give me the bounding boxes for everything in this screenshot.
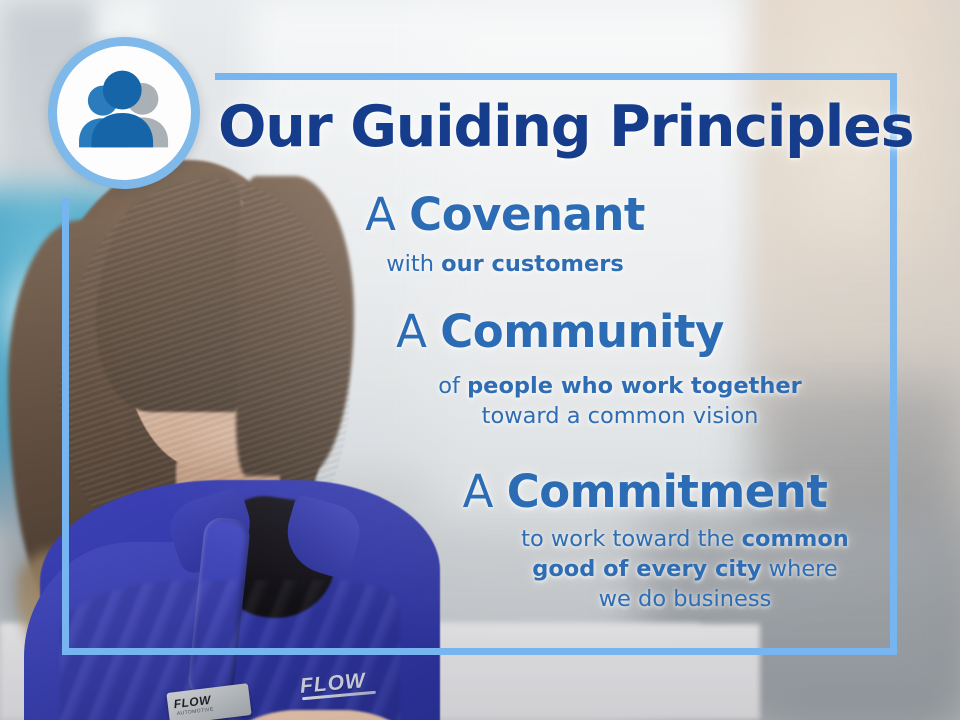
commitment-sub-regular-1: to work toward the	[521, 526, 742, 552]
principle-lead-commitment: A	[463, 465, 493, 518]
principle-heading-community: A Community	[380, 305, 740, 358]
people-group-icon	[57, 46, 191, 180]
guiding-principles-graphic: FLOW AUTOMOTIVE FLOW Our Guiding Pri	[0, 0, 960, 720]
covenant-sub-regular: with	[386, 251, 441, 277]
principle-word-community: Community	[440, 305, 724, 358]
community-sub-line-2: toward a common vision	[420, 402, 820, 432]
commitment-sub-line-1: to work toward the common	[490, 525, 880, 555]
commitment-sub-bold-2: good of every city	[532, 556, 761, 582]
covenant-sub-bold: our customers	[441, 251, 624, 277]
principle-heading-commitment: A Commitment	[440, 465, 850, 518]
commitment-sub-bold-1: common	[742, 526, 849, 552]
principle-sub-covenant: with our customers	[330, 250, 680, 280]
principle-heading-covenant: A Covenant	[340, 188, 670, 241]
commitment-sub-line-3: we do business	[490, 585, 880, 615]
community-sub-regular: of	[438, 373, 467, 399]
principle-word-commitment: Commitment	[507, 465, 828, 518]
principle-word-covenant: Covenant	[409, 188, 645, 241]
principle-sub-commitment: to work toward the common good of every …	[490, 525, 880, 615]
principle-lead-community: A	[396, 305, 426, 358]
community-sub-bold: people who work together	[467, 373, 802, 399]
page-title: Our Guiding Principles	[218, 94, 878, 160]
frame-border-bottom	[62, 648, 897, 655]
principle-sub-community: of people who work together toward a com…	[420, 372, 820, 432]
frame-border-right	[890, 73, 897, 655]
frame-border-top	[215, 73, 897, 80]
people-group-badge	[48, 37, 200, 189]
commitment-sub-regular-2: where	[762, 556, 838, 582]
principle-lead-covenant: A	[365, 188, 395, 241]
frame-border-left	[62, 198, 69, 655]
subject-hair-front-right	[236, 176, 354, 476]
commitment-sub-line-2: good of every city where	[490, 555, 880, 585]
community-sub-line-1: of people who work together	[420, 372, 820, 402]
